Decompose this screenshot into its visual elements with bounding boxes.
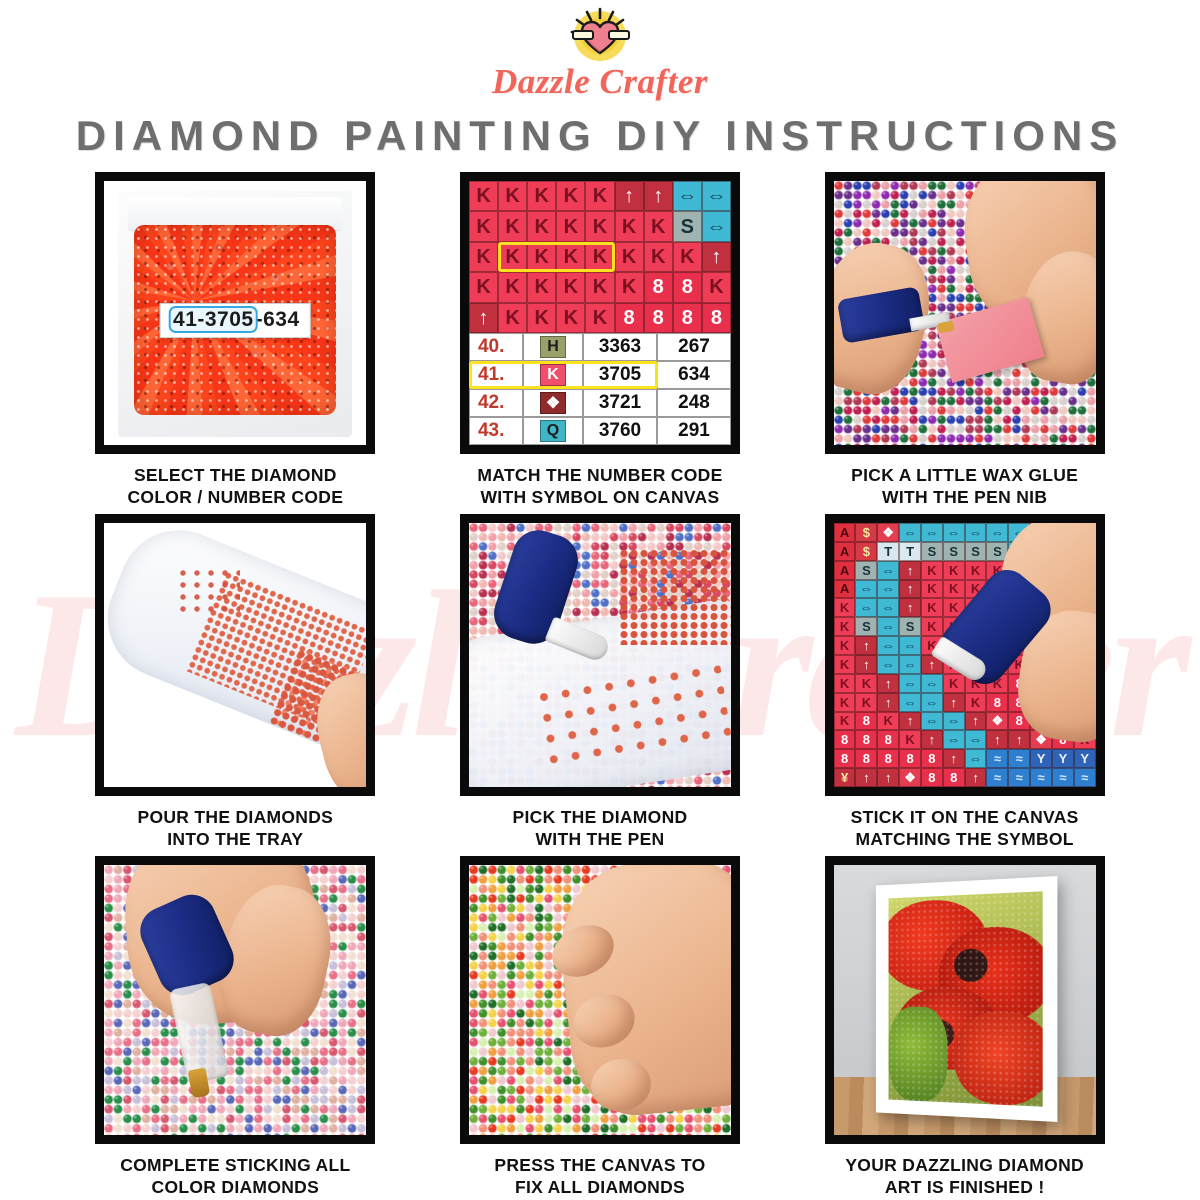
chart-cell: ≈ bbox=[1030, 768, 1052, 787]
chart-cell: K bbox=[834, 674, 856, 693]
chart-cell: K bbox=[834, 693, 856, 712]
step-caption-9: YOUR DAZZLING DIAMOND ART IS FINISHED ! bbox=[845, 1154, 1084, 1200]
chart-cell: ⇔ bbox=[943, 730, 965, 749]
chart-cell: A bbox=[834, 542, 856, 561]
chart-cell: ⇔ bbox=[877, 617, 899, 636]
chart-cell: ⇔ bbox=[877, 636, 899, 655]
chart-cell: ≈ bbox=[986, 768, 1008, 787]
chart-cell: ↑ bbox=[702, 242, 731, 272]
chart-cell: K bbox=[556, 211, 585, 241]
bag-code-label: 41-3705-634 bbox=[160, 303, 311, 338]
chart-cell: 8 bbox=[644, 303, 673, 333]
chart-cell: 8 bbox=[943, 768, 965, 787]
chart-cell: K bbox=[921, 598, 943, 617]
chart-cell: ⇔ bbox=[921, 693, 943, 712]
chart-cell: ⇔ bbox=[965, 730, 987, 749]
chart-cell: K bbox=[469, 272, 498, 302]
chart-cell: K bbox=[899, 730, 921, 749]
chart-cell: ↑ bbox=[965, 768, 987, 787]
chart-cell: ↑ bbox=[855, 768, 877, 787]
step-image-frame-2: KKKKK↑↑⇔⇔KKKKKKKS⇔KKKKKKKK↑KKKKKK88K↑KKK… bbox=[460, 172, 740, 454]
chart-cell: ⇔ bbox=[965, 523, 987, 542]
chart-cell: K bbox=[673, 242, 702, 272]
chart-cell: ⇔ bbox=[877, 598, 899, 617]
steps-grid: 41-3705-634 SELECT THE DIAMOND COLOR / N… bbox=[0, 172, 1200, 1200]
white-tray-with-red-diamonds bbox=[104, 523, 366, 787]
chart-cell: ↑ bbox=[1008, 730, 1030, 749]
chart-cell: S bbox=[673, 211, 702, 241]
chart-cell: $ bbox=[855, 523, 877, 542]
step-card-4: POUR THE DIAMONDS INTO THE TRAY bbox=[62, 514, 409, 852]
chart-cell: Υ bbox=[1030, 749, 1052, 768]
chart-cell: ⇔ bbox=[702, 181, 731, 211]
chart-cell: 8 bbox=[855, 712, 877, 731]
step-image-frame-9 bbox=[825, 856, 1105, 1144]
chart-cell: ↑ bbox=[644, 181, 673, 211]
chart-cell: ↑ bbox=[855, 655, 877, 674]
legend-symbol: ❖ bbox=[540, 392, 566, 414]
legend-symbol: K bbox=[540, 364, 566, 386]
symbol-chart: KKKKK↑↑⇔⇔KKKKKKKS⇔KKKKKKKK↑KKKKKK88K↑KKK… bbox=[469, 181, 731, 445]
chart-cell: K bbox=[556, 181, 585, 211]
chart-cell: K bbox=[527, 272, 556, 302]
chart-cell: K bbox=[834, 712, 856, 731]
chart-cell: ↑ bbox=[469, 303, 498, 333]
chart-cell: ↑ bbox=[855, 636, 877, 655]
chart-cell: K bbox=[877, 712, 899, 731]
step-image-frame-6: A$❖⇔⇔⇔⇔⇔⇔↑KKA$TTSSSS⇔⇔SKAS⇔↑KKKK↑⇔⇔KA⇔⇔↑… bbox=[825, 514, 1105, 796]
chart-cell: ↑ bbox=[877, 768, 899, 787]
legend-dmc-code: 3363 bbox=[583, 333, 657, 361]
chart-cell: 8 bbox=[834, 730, 856, 749]
chart-cell: T bbox=[877, 542, 899, 561]
chart-cell: K bbox=[921, 580, 943, 599]
legend-count: 291 bbox=[657, 417, 731, 445]
chart-cell: K bbox=[943, 561, 965, 580]
chart-cell: K bbox=[527, 211, 556, 241]
chart-cell: ≈ bbox=[1008, 749, 1030, 768]
chart-cell: K bbox=[585, 181, 614, 211]
diamonds-in-tray-rows bbox=[619, 549, 731, 645]
chart-cell: K bbox=[556, 242, 585, 272]
chart-cell: ≈ bbox=[1052, 768, 1074, 787]
legend-symbol-cell: ❖ bbox=[523, 389, 583, 417]
chart-cell: K bbox=[855, 674, 877, 693]
chart-cell: ⇔ bbox=[986, 523, 1008, 542]
chart-cell: 8 bbox=[899, 749, 921, 768]
step-image-frame-3 bbox=[825, 172, 1105, 454]
step-card-2: KKKKK↑↑⇔⇔KKKKKKKS⇔KKKKKKKK↑KKKKKK88K↑KKK… bbox=[427, 172, 774, 510]
chart-cell: K bbox=[644, 242, 673, 272]
white-picture-frame bbox=[876, 876, 1058, 1122]
step-caption-7: COMPLETE STICKING ALL COLOR DIAMONDS bbox=[120, 1154, 350, 1200]
chart-cell: K bbox=[615, 272, 644, 302]
chart-cell: ⇔ bbox=[877, 580, 899, 599]
chart-cell: K bbox=[702, 272, 731, 302]
chart-cell: T bbox=[899, 542, 921, 561]
pen-picking-pink-wax-glue bbox=[834, 181, 1096, 445]
chart-cell: S bbox=[943, 542, 965, 561]
legend-number: 40. bbox=[469, 333, 523, 361]
step-image-frame-5 bbox=[460, 514, 740, 796]
chart-cell: ⇔ bbox=[899, 674, 921, 693]
step-caption-4: POUR THE DIAMONDS INTO THE TRAY bbox=[137, 806, 333, 852]
chart-cell: ≈ bbox=[1074, 768, 1096, 787]
chart-cell: K bbox=[834, 617, 856, 636]
chart-cell: K bbox=[855, 693, 877, 712]
legend-count: 634 bbox=[657, 361, 731, 389]
chart-cell: 8 bbox=[921, 749, 943, 768]
chart-cell: ❖ bbox=[899, 768, 921, 787]
chart-cell: S bbox=[855, 561, 877, 580]
chart-cell: K bbox=[585, 303, 614, 333]
legend-row: 41.K3705634 bbox=[469, 361, 731, 389]
step-caption-1: SELECT THE DIAMOND COLOR / NUMBER CODE bbox=[127, 464, 343, 510]
chart-cell: K bbox=[585, 211, 614, 241]
chart-cell: K bbox=[943, 674, 965, 693]
legend-dmc-code: 3721 bbox=[583, 389, 657, 417]
chart-cell: A bbox=[834, 580, 856, 599]
chart-cell: ¥ bbox=[834, 768, 856, 787]
bag-code-highlight: 41-3705 bbox=[171, 308, 256, 331]
page-header: Dazzle Crafter DIAMOND PAINTING DIY INST… bbox=[0, 0, 1200, 160]
step-caption-6: STICK IT ON THE CANVAS MATCHING THE SYMB… bbox=[851, 806, 1079, 852]
chart-cell: K bbox=[644, 211, 673, 241]
poppy-artwork bbox=[888, 891, 1042, 1106]
logo-container bbox=[0, 4, 1200, 66]
chart-cell: 8 bbox=[986, 693, 1008, 712]
dmc-legend-table: 40.H336326741.K370563442.❖372124843.Q376… bbox=[469, 333, 731, 445]
chart-cell: 8 bbox=[644, 272, 673, 302]
chart-cell: K bbox=[469, 211, 498, 241]
chart-cell: 8 bbox=[921, 768, 943, 787]
chart-cell: ⇔ bbox=[921, 712, 943, 731]
step-caption-2: MATCH THE NUMBER CODE WITH SYMBOL ON CAN… bbox=[477, 464, 722, 510]
step-caption-5: PICK THE DIAMOND WITH THE PEN bbox=[513, 806, 688, 852]
chart-cell: ≈ bbox=[1008, 768, 1030, 787]
pen-picking-diamond-from-tray bbox=[469, 523, 731, 787]
chart-cell: K bbox=[498, 272, 527, 302]
legend-number: 43. bbox=[469, 417, 523, 445]
chart-cell: K bbox=[834, 636, 856, 655]
bag-code-suffix: -634 bbox=[256, 308, 300, 331]
step-caption-8: PRESS THE CANVAS TO FIX ALL DIAMONDS bbox=[494, 1154, 705, 1200]
step-card-6: A$❖⇔⇔⇔⇔⇔⇔↑KKA$TTSSSS⇔⇔SKAS⇔↑KKKK↑⇔⇔KA⇔⇔↑… bbox=[791, 514, 1138, 852]
canvas-symbol-grid: KKKKK↑↑⇔⇔KKKKKKKS⇔KKKKKKKK↑KKKKKK88K↑KKK… bbox=[469, 181, 731, 333]
legend-row: 40.H3363267 bbox=[469, 333, 731, 361]
chart-cell: K bbox=[585, 242, 614, 272]
step-card-9: YOUR DAZZLING DIAMOND ART IS FINISHED ! bbox=[791, 856, 1138, 1200]
chart-cell: A bbox=[834, 523, 856, 542]
chart-cell: ⇔ bbox=[673, 181, 702, 211]
chart-cell: K bbox=[469, 181, 498, 211]
chart-cell: K bbox=[615, 242, 644, 272]
canvas-chart-with-legend-table: KKKKK↑↑⇔⇔KKKKKKKS⇔KKKKKKKK↑KKKKKK88K↑KKK… bbox=[469, 181, 731, 445]
chart-cell: ↑ bbox=[943, 693, 965, 712]
chart-cell: K bbox=[556, 272, 585, 302]
chart-cell: ⇔ bbox=[965, 749, 987, 768]
chart-cell: K bbox=[498, 211, 527, 241]
chart-cell: ↑ bbox=[899, 580, 921, 599]
chart-cell: K bbox=[498, 181, 527, 211]
chart-cell: K bbox=[921, 561, 943, 580]
chart-cell: 8 bbox=[615, 303, 644, 333]
chart-cell: 8 bbox=[855, 730, 877, 749]
chart-cell: ≈ bbox=[986, 749, 1008, 768]
chart-cell: K bbox=[527, 181, 556, 211]
page-title: DIAMOND PAINTING DIY INSTRUCTIONS bbox=[0, 112, 1200, 160]
chart-cell: 8 bbox=[673, 303, 702, 333]
legend-count: 267 bbox=[657, 333, 731, 361]
chart-cell: 8 bbox=[855, 749, 877, 768]
legend-symbol-cell: H bbox=[523, 333, 583, 361]
chart-cell: ❖ bbox=[877, 523, 899, 542]
chart-cell: K bbox=[965, 561, 987, 580]
chart-cell: ⇔ bbox=[943, 712, 965, 731]
legend-number: 41. bbox=[469, 361, 523, 389]
chart-cell: 8 bbox=[702, 303, 731, 333]
infographic-page: Dazzle Crafter bbox=[0, 0, 1200, 1200]
step-card-8: PRESS THE CANVAS TO FIX ALL DIAMONDS bbox=[427, 856, 774, 1200]
chart-cell: ↑ bbox=[965, 712, 987, 731]
chart-cell: ⇔ bbox=[899, 523, 921, 542]
chart-cell: ↑ bbox=[877, 693, 899, 712]
step-caption-3: PICK A LITTLE WAX GLUE WITH THE PEN NIB bbox=[851, 464, 1078, 510]
chart-cell: S bbox=[965, 542, 987, 561]
chart-cell: ⇔ bbox=[899, 693, 921, 712]
legend-row: 43.Q3760291 bbox=[469, 417, 731, 445]
chart-cell: K bbox=[834, 598, 856, 617]
chart-cell: ↑ bbox=[899, 712, 921, 731]
legend-number: 42. bbox=[469, 389, 523, 417]
scattered-diamonds bbox=[176, 567, 240, 615]
pen-placing-diamond-on-symbol-chart: A$❖⇔⇔⇔⇔⇔⇔↑KKA$TTSSSS⇔⇔SKAS⇔↑KKKK↑⇔⇔KA⇔⇔↑… bbox=[834, 523, 1096, 787]
legend-symbol-cell: K bbox=[523, 361, 583, 389]
chart-cell: ⇔ bbox=[877, 561, 899, 580]
chart-cell: K bbox=[834, 655, 856, 674]
legend-row: 42.❖3721248 bbox=[469, 389, 731, 417]
bag-of-red-diamonds-with-label: 41-3705-634 bbox=[104, 181, 366, 445]
chart-cell: $ bbox=[855, 542, 877, 561]
step-card-3: PICK A LITTLE WAX GLUE WITH THE PEN NIB bbox=[791, 172, 1138, 510]
chart-cell: ↑ bbox=[899, 561, 921, 580]
chart-cell: ⇔ bbox=[921, 523, 943, 542]
brand-name: Dazzle Crafter bbox=[0, 62, 1200, 102]
chart-cell: ⇔ bbox=[899, 636, 921, 655]
hand-with-pen-on-finished-area bbox=[104, 865, 366, 1135]
chart-cell: S bbox=[899, 617, 921, 636]
legend-symbol: H bbox=[540, 336, 566, 358]
chart-cell: 8 bbox=[877, 730, 899, 749]
chart-cell: A bbox=[834, 561, 856, 580]
chart-cell: ↑ bbox=[899, 598, 921, 617]
chart-cell: ❖ bbox=[986, 712, 1008, 731]
chart-cell: 8 bbox=[834, 749, 856, 768]
chart-cell: K bbox=[527, 242, 556, 272]
legend-dmc-code: 3705 bbox=[583, 361, 657, 389]
chart-cell: ⇔ bbox=[943, 523, 965, 542]
chart-cell: ⇔ bbox=[921, 674, 943, 693]
chart-cell: K bbox=[921, 617, 943, 636]
chart-cell: 8 bbox=[673, 272, 702, 302]
legend-count: 248 bbox=[657, 389, 731, 417]
step-card-1: 41-3705-634 SELECT THE DIAMOND COLOR / N… bbox=[62, 172, 409, 510]
chart-cell: ↑ bbox=[943, 749, 965, 768]
chart-cell: ⇔ bbox=[877, 655, 899, 674]
chart-cell: K bbox=[585, 272, 614, 302]
step-image-frame-1: 41-3705-634 bbox=[95, 172, 375, 454]
heart-with-pen-sunburst-logo bbox=[557, 6, 643, 64]
chart-cell: K bbox=[615, 211, 644, 241]
chart-cell: ⇔ bbox=[899, 655, 921, 674]
step-image-frame-7 bbox=[95, 856, 375, 1144]
chart-cell: 8 bbox=[877, 749, 899, 768]
step-card-7: COMPLETE STICKING ALL COLOR DIAMONDS bbox=[62, 856, 409, 1200]
framed-red-poppy-diamond-art bbox=[834, 865, 1096, 1135]
chart-cell: ↑ bbox=[921, 730, 943, 749]
legend-symbol-cell: Q bbox=[523, 417, 583, 445]
chart-cell: K bbox=[469, 242, 498, 272]
chart-cell: ↑ bbox=[877, 674, 899, 693]
chart-cell: ⇔ bbox=[855, 580, 877, 599]
chart-cell: K bbox=[527, 303, 556, 333]
chart-cell: S bbox=[921, 542, 943, 561]
chart-cell: S bbox=[855, 617, 877, 636]
chart-cell: ⇔ bbox=[702, 211, 731, 241]
chart-cell: K bbox=[965, 693, 987, 712]
legend-symbol: Q bbox=[540, 420, 566, 442]
diamond-sparkle-texture bbox=[888, 891, 1042, 1106]
chart-cell: K bbox=[943, 580, 965, 599]
step-image-frame-8 bbox=[460, 856, 740, 1144]
chart-cell: K bbox=[556, 303, 585, 333]
step-card-5: PICK THE DIAMOND WITH THE PEN bbox=[427, 514, 774, 852]
chart-cell: Υ bbox=[1052, 749, 1074, 768]
chart-cell: ⇔ bbox=[855, 598, 877, 617]
chart-cell: K bbox=[498, 303, 527, 333]
hand-pressing-finished-canvas bbox=[469, 865, 731, 1135]
chart-cell: K bbox=[498, 242, 527, 272]
chart-cell: ↑ bbox=[615, 181, 644, 211]
legend-dmc-code: 3760 bbox=[583, 417, 657, 445]
step-image-frame-4 bbox=[95, 514, 375, 796]
chart-cell: ↑ bbox=[986, 730, 1008, 749]
chart-cell: Υ bbox=[1074, 749, 1096, 768]
